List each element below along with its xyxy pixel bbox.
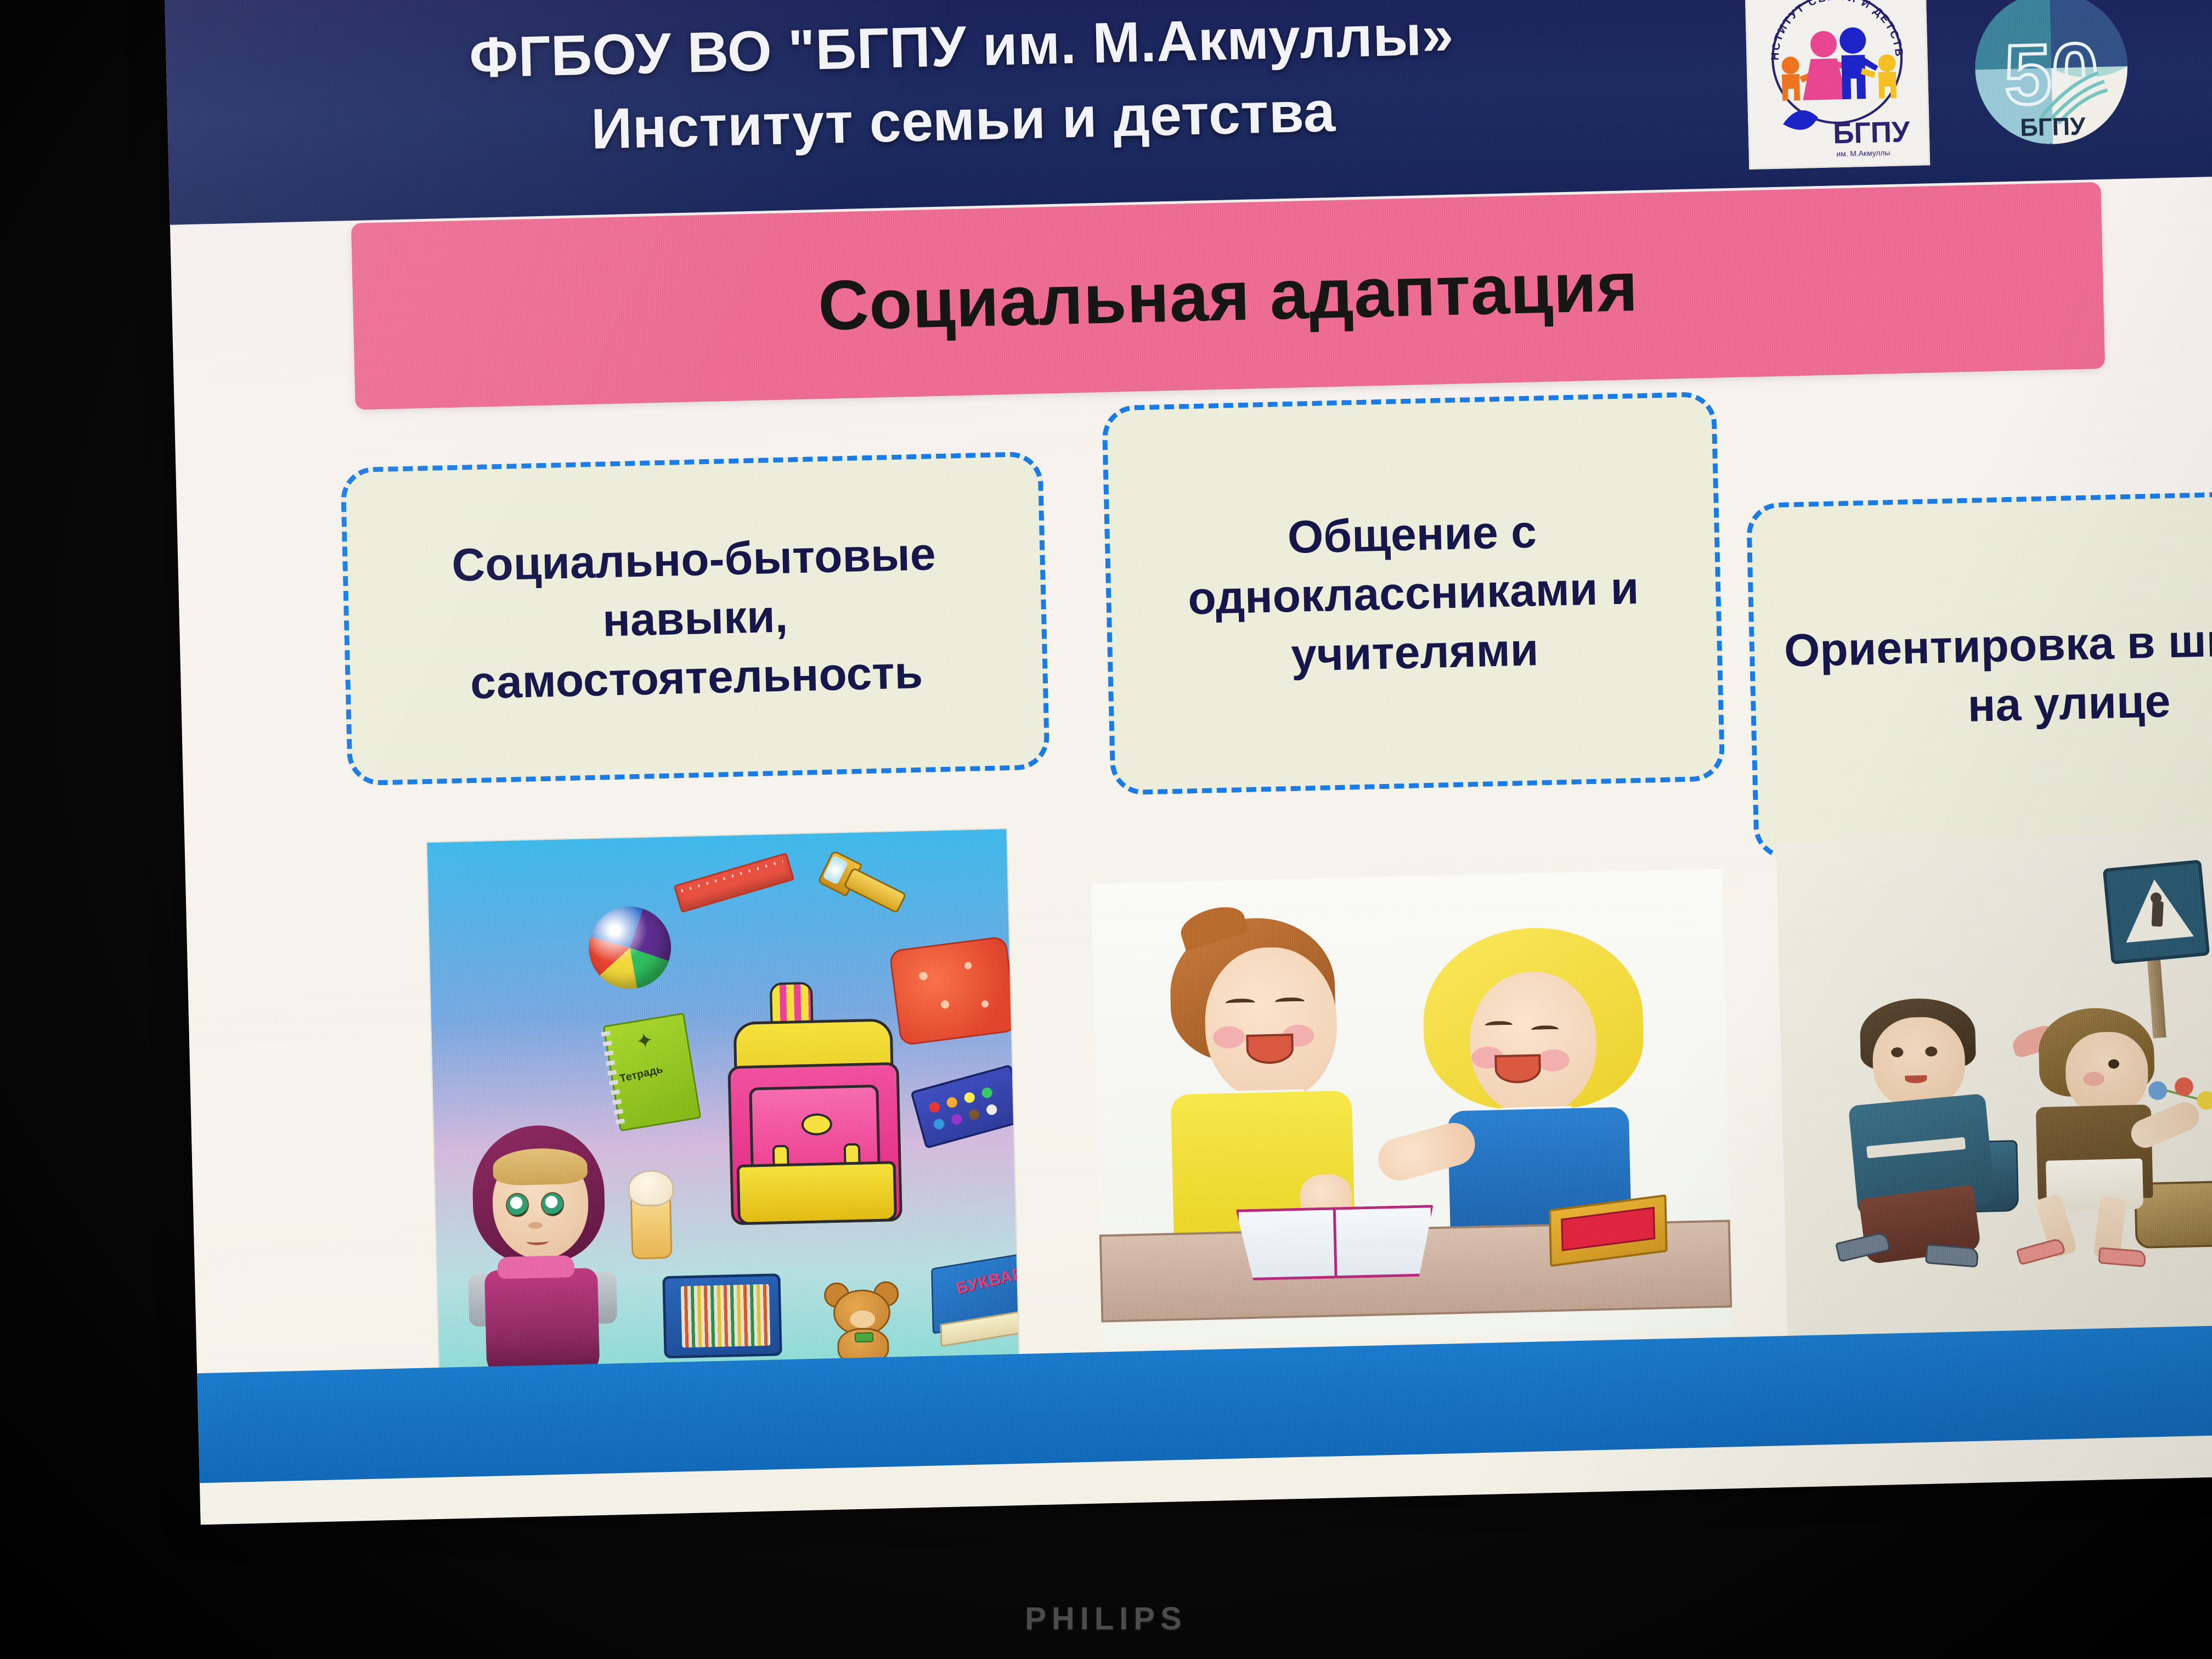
ruler-icon <box>673 853 794 913</box>
flowers-icon <box>2148 1076 2212 1133</box>
anniversary-50-icon: 50 БГПУ им. М.Акмуллы <box>1961 0 2141 162</box>
concept-box-orientation: Ориентировка в школе и на улице <box>1746 488 2212 860</box>
concept-box-social: Социально-бытовые навыки, самостоятельно… <box>340 452 1049 786</box>
svg-text:им. М.Акмуллы: им. М.Акмуллы <box>1836 148 1890 157</box>
page-title: ФГБОУ ВО "БГПУ им. М.Акмуллы» Институт с… <box>247 0 1677 175</box>
presentation-slide: ФГБОУ ВО "БГПУ им. М.Акмуллы» Институт с… <box>165 0 2212 1525</box>
svg-text:им. М.Акмуллы: им. М.Акмуллы <box>2025 141 2081 151</box>
ice-cream-icon <box>624 1166 679 1261</box>
pencil-case-icon <box>662 1273 782 1358</box>
institute-logo: ИНСТИТУТ СЕМЬИ И ДЕТСТВА <box>1745 0 1930 170</box>
backpack-icon <box>721 980 909 1231</box>
slide-title-banner: Социальная адаптация <box>351 182 2105 410</box>
pedestrian-crossing-sign-icon <box>2103 860 2210 964</box>
pillow-icon <box>889 936 1018 1046</box>
svg-text:БГПУ: БГПУ <box>2020 112 2086 142</box>
monitor-brand-label: PHILIPS <box>0 1600 2212 1637</box>
teddy-bear-icon <box>816 1279 909 1366</box>
primer-book-icon: БУКВАРЬ <box>931 1256 1021 1350</box>
anniversary-logo: 50 БГПУ им. М.Акмуллы <box>1959 0 2144 165</box>
concept-box-orientation-label: Ориентировка в школе и на улице <box>1778 608 2212 740</box>
institute-logo-icon: ИНСТИТУТ СЕМЬИ И ДЕТСТВА <box>1747 0 1927 167</box>
monitor-photo: ФГБОУ ВО "БГПУ им. М.Акмуллы» Институт с… <box>0 0 2212 1659</box>
flashlight-icon <box>816 849 912 922</box>
illustration-masha-school-supplies: ✦ Тетрадь БУКВАРЬ <box>426 828 1021 1407</box>
concept-box-social-label: Социально-бытовые навыки, самостоятельно… <box>371 522 1019 714</box>
open-book-icon <box>1236 1205 1435 1280</box>
concept-box-communication-label: Общение с одноклассниками и учителями <box>1133 498 1694 688</box>
masha-character <box>456 1124 627 1396</box>
concept-box-communication: Общение с одноклассниками и учителями <box>1102 392 1725 795</box>
header-line-2: Институт семьи и детства <box>250 67 1677 174</box>
schoolgirl-character <box>2000 1006 2212 1257</box>
notebook-label: Тетрадь <box>618 1063 664 1086</box>
notebook-icon: ✦ Тетрадь <box>603 1013 702 1132</box>
svg-text:БГПУ: БГПУ <box>1832 116 1910 150</box>
illustration-two-children-at-desk <box>1091 869 1733 1345</box>
illustration-schoolchildren-on-street <box>1776 831 2212 1342</box>
paint-set-icon <box>910 1064 1020 1149</box>
ball-icon <box>588 906 672 990</box>
slide-title-text: Социальная адаптация <box>817 246 1639 346</box>
